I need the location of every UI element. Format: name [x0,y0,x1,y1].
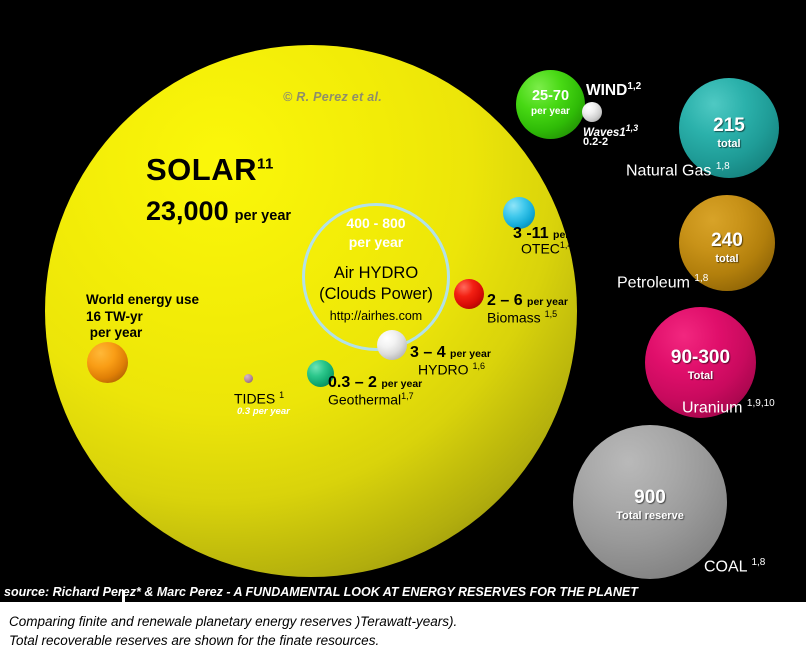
otec-label: OTEC1,4 [521,240,572,257]
coal-sub: Total reserve [573,510,727,522]
coal-amount: 900 [573,487,727,509]
coal-name-text: COAL [704,558,747,575]
air-hydro-url[interactable]: http://airhes.com [302,309,450,323]
otec-name-text: OTEC [521,241,560,257]
hydro-label: HYDRO 1,6 [418,361,485,378]
petroleum-amount: 240 [679,230,775,252]
air-hydro-unit: per year [349,234,403,250]
petroleum-footnote: 1,8 [694,273,708,284]
petroleum-sub: total [679,253,775,265]
copyright-text: © R. Perez et al. [283,90,382,104]
geothermal-name-text: Geothermal [328,392,401,408]
hydro-unit: per year [450,348,491,360]
caption-tick-mark [122,590,125,602]
uranium-amount: 90-300 [645,347,756,369]
geothermal-value: 0.3 – 2 per year [328,374,422,392]
coal-footnote: 1,8 [751,557,765,568]
caption-text: Comparing finite and renewale planetary … [9,612,457,650]
natural-gas-value: 215total [679,115,779,150]
solar-label-text: SOLAR [146,152,257,187]
infographic-root: © R. Perez et al. SOLAR11 23,000per year… [0,0,806,655]
uranium-label: Uranium 1,9,10 [682,398,775,417]
natural-gas-amount: 215 [679,115,779,137]
geothermal-footnote: 1,7 [401,391,414,401]
biomass-name-text: Biomass [487,310,541,326]
wind-value: 25-70per year [516,88,585,120]
coal-value: 900Total reserve [573,487,727,522]
uranium-value: 90-300Total [645,347,756,382]
petroleum-name-text: Petroleum [617,274,690,291]
hydro-value: 3 – 4 per year [410,344,491,362]
wind-label: WIND1,2 [586,81,641,100]
wind-unit: per year [516,104,585,120]
waves-bubble [582,102,602,122]
coal-label: COAL 1,8 [704,557,765,576]
solar-unit: per year [235,208,291,224]
waves-footnote: 1,3 [626,123,639,133]
uranium-sub: Total [645,370,756,382]
uranium-name-text: Uranium [682,399,742,416]
hydro-amount: 3 – 4 [410,344,446,361]
world-energy-use-label: World energy use 16 TW-yr per year [86,292,199,342]
natural-gas-name-text: Natural Gas [626,162,711,179]
otec-footnote: 1,4 [560,240,573,250]
natural-gas-label: Natural Gas 1,8 [626,161,730,180]
air-hydro-label: Air HYDRO (Clouds Power) [295,263,457,305]
tides-footnote: 1 [279,390,284,400]
world-energy-use-bubble [87,342,128,383]
tides-label: TIDES 1 [234,390,284,407]
solar-amount: 23,000 [146,196,229,226]
geothermal-label: Geothermal1,7 [328,391,414,408]
air-hydro-amount: 400 - 800 [346,215,405,231]
air-hydro-title: Air HYDRO (Clouds Power) [319,264,433,303]
natural-gas-footnote: 1,8 [716,161,730,172]
caption-strip: Comparing finite and renewale planetary … [0,602,806,655]
uranium-footnote: 1,9,10 [747,398,775,409]
solar-value: 23,000per year [146,196,291,227]
geothermal-unit: per year [381,378,422,390]
air-hydro-value: 400 - 800per year [302,214,450,252]
biomass-value: 2 – 6 per year [487,292,568,310]
poster-canvas: © R. Perez et al. SOLAR11 23,000per year… [0,0,806,602]
biomass-unit: per year [527,296,568,308]
biomass-amount: 2 – 6 [487,292,523,309]
hydro-footnote: 1,6 [472,361,485,371]
geothermal-amount: 0.3 – 2 [328,374,377,391]
source-credit: source: Richard Perez* & Marc Perez - A … [4,585,638,599]
biomass-footnote: 1,5 [545,309,558,319]
petroleum-label: Petroleum 1,8 [617,273,708,292]
solar-footnote: 11 [257,156,274,173]
tides-bubble [244,374,253,383]
tides-name-text: TIDES [234,391,275,407]
biomass-label: Biomass 1,5 [487,309,557,326]
tides-value: 0.3 per year [237,406,290,417]
wind-name-text: WIND [586,82,627,99]
natural-gas-sub: total [679,138,779,150]
solar-label: SOLAR11 [146,152,274,188]
wind-amount: 25-70 [532,88,569,104]
petroleum-value: 240total [679,230,775,265]
wind-footnote: 1,2 [627,81,641,92]
biomass-bubble [454,279,484,309]
hydro-name-text: HYDRO [418,362,469,378]
hydro-bubble [377,330,407,360]
waves-value: 0.2-2 [583,136,608,148]
